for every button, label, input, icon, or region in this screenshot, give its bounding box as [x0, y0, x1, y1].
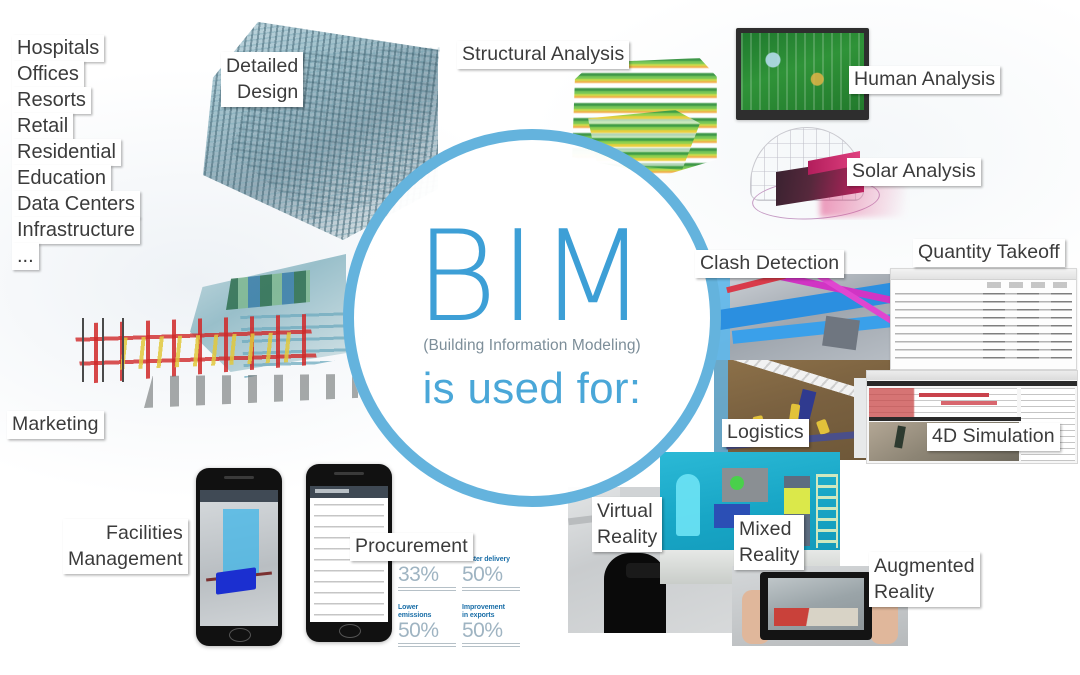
marketing-columns: [82, 318, 126, 382]
label-detailed-design: Detailed Design: [221, 52, 303, 107]
facilities-management-phone: [196, 468, 282, 646]
bim-tagline: is used for:: [423, 363, 642, 415]
label-virtual-reality: Virtual Reality: [592, 497, 662, 552]
mr-screen-1: [722, 468, 768, 502]
phone-app-toolbar: [200, 490, 278, 502]
building-type-infrastructure: Infrastructure: [12, 217, 140, 244]
building-type-education: Education: [12, 165, 111, 192]
procurement-stats-panel: Lower costs 33% Faster delivery 50% Lowe…: [398, 556, 520, 648]
building-type-residential: Residential: [12, 139, 121, 166]
mr-worker-vest: [784, 488, 810, 514]
monitor-screen: [741, 33, 864, 110]
label-human-analysis: Human Analysis: [849, 66, 1000, 94]
crane-boom: [720, 360, 866, 400]
building-type-offices: Offices: [12, 61, 84, 88]
label-augmented-reality: Augmented Reality: [869, 552, 980, 607]
simulation-dark-bar: [867, 381, 1077, 386]
building-type-hospitals: Hospitals: [12, 35, 104, 62]
bim-expansion: (Building Information Modeling): [423, 337, 641, 355]
label-logistics: Logistics: [722, 419, 809, 447]
stat-lower-emissions: Lower emissions 50%: [398, 604, 456, 647]
infographic-canvas: BIM (Building Information Modeling) is u…: [0, 0, 1080, 675]
label-facilities-management: Facilities Management: [63, 519, 188, 574]
mr-ladder: [816, 474, 838, 548]
stat-heading: Lower emissions: [398, 604, 456, 620]
label-4d-simulation: 4D Simulation: [927, 423, 1060, 451]
stat-note: [398, 643, 456, 647]
center-content: BIM (Building Information Modeling) is u…: [343, 129, 721, 507]
phone-home-button: [229, 628, 251, 642]
building-type-ellipsis: ...: [12, 243, 39, 270]
building-type-retail: Retail: [12, 113, 73, 140]
gantt-bar-2: [941, 401, 997, 405]
phone-screen: [200, 490, 278, 626]
simulation-toolbar: [867, 371, 1077, 380]
spreadsheet-column-headers: [987, 282, 1072, 288]
building-type-resorts: Resorts: [12, 87, 91, 114]
label-mixed-reality: Mixed Reality: [734, 515, 804, 570]
stat-lower-costs: Lower costs 33%: [398, 556, 456, 591]
marketing-render-image: [58, 248, 358, 433]
building-type-data-centers: Data Centers: [12, 191, 140, 218]
label-marketing: Marketing: [7, 411, 104, 439]
gantt-bar-1: [919, 393, 989, 397]
label-procurement: Procurement: [350, 533, 473, 561]
stat-value: 50%: [398, 620, 456, 642]
stat-value: 33%: [398, 564, 456, 586]
stat-note: [462, 643, 520, 647]
clash-detection-image: [714, 274, 892, 367]
phone-list-rows: [314, 504, 384, 618]
label-clash-detection: Clash Detection: [695, 250, 844, 278]
phone-home-button: [339, 624, 361, 638]
spreadsheet-titlebar: [891, 269, 1076, 280]
phone-speaker: [224, 476, 254, 479]
label-structural-analysis: Structural Analysis: [457, 41, 629, 69]
spreadsheet-rows: [895, 293, 1072, 365]
stat-note: [462, 587, 520, 591]
label-quantity-takeoff: Quantity Takeoff: [913, 239, 1065, 267]
stat-value: 50%: [462, 564, 520, 586]
clash-grey-mass: [822, 316, 860, 350]
ar-tablet-screen: [768, 578, 864, 630]
stat-value: 50%: [462, 620, 520, 642]
quantity-takeoff-image: [890, 268, 1077, 370]
bim-acronym: BIM: [415, 221, 649, 333]
stat-note: [398, 587, 456, 591]
stat-heading: Improvement in exports: [462, 604, 520, 620]
stat-faster-delivery: Faster delivery 50%: [462, 556, 520, 591]
phone-3d-view: [200, 502, 278, 626]
stat-improvement-in-exports: Improvement in exports 50%: [462, 604, 520, 647]
label-solar-analysis: Solar Analysis: [847, 158, 981, 186]
marketing-base-slab: [144, 374, 358, 408]
